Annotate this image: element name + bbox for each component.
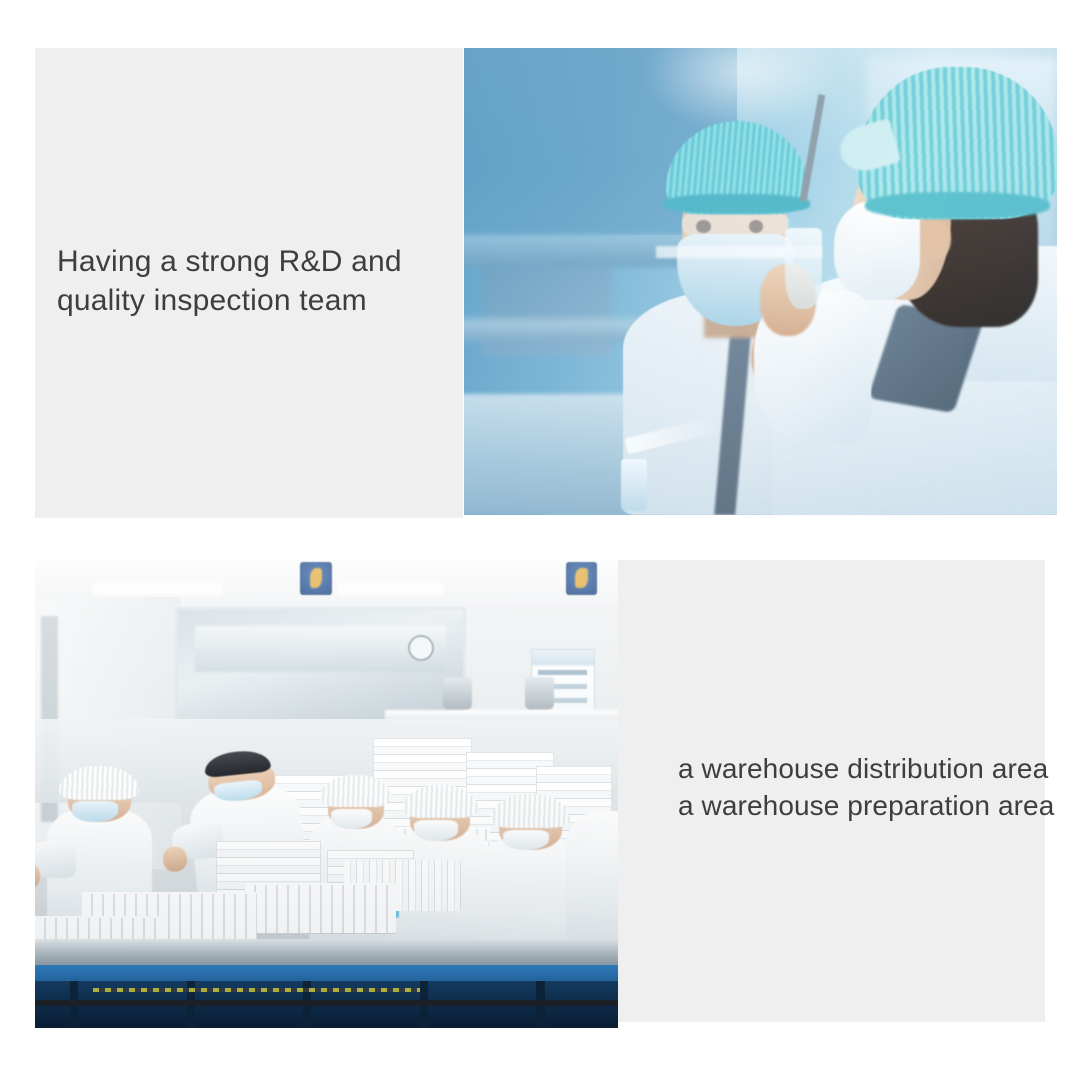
ceiling-light-2 [338,583,443,594]
ceiling-light-1 [93,583,221,594]
caption-line-1: Having a strong R&D and [57,242,457,281]
caption-line-2: a warehouse preparation area [678,787,1078,824]
face-mask [331,809,372,829]
hairnet-cap [491,794,571,828]
hazard-tape [93,988,419,992]
caption-line-2: quality inspection team [57,281,457,320]
steel-container-1 [443,677,472,710]
table-rail [35,1000,618,1007]
caption-panel-top: Having a strong R&D and quality inspecti… [35,48,463,518]
hairnet-cap [403,785,478,819]
wall-sign-icon-1 [300,562,331,595]
sample-vial [621,459,647,511]
steel-table-top [35,939,618,967]
hairnet-band [865,192,1050,219]
section-warehouse: a warehouse distribution area a warehous… [35,560,1045,1028]
promo-layout-page: Having a strong R&D and quality inspecti… [0,0,1080,1080]
pipette [800,94,826,201]
arm [35,841,76,878]
photo-warehouse-packing [35,560,618,1028]
caption-warehouse: a warehouse distribution area a warehous… [678,750,1078,824]
lab-technician-profile [772,67,1057,515]
wall-sign-icon-2 [566,562,597,595]
wall-clock-icon [408,635,434,661]
cleanroom-background [35,560,618,1028]
steel-container-2 [525,677,554,710]
caption-rnd-quality: Having a strong R&D and quality inspecti… [57,242,457,320]
caption-line-1: a warehouse distribution area [678,750,1078,787]
hairnet-cap [59,766,139,800]
photo-lab-inspection [464,48,1057,515]
face-mask [72,801,118,822]
glass-flask [785,228,822,309]
carton-row [245,883,397,934]
section-rnd-quality: Having a strong R&D and quality inspecti… [35,48,1057,518]
face-mask [414,820,458,841]
caption-panel-bottom: a warehouse distribution area a warehous… [618,560,1045,1022]
hairnet-cap [320,775,391,807]
